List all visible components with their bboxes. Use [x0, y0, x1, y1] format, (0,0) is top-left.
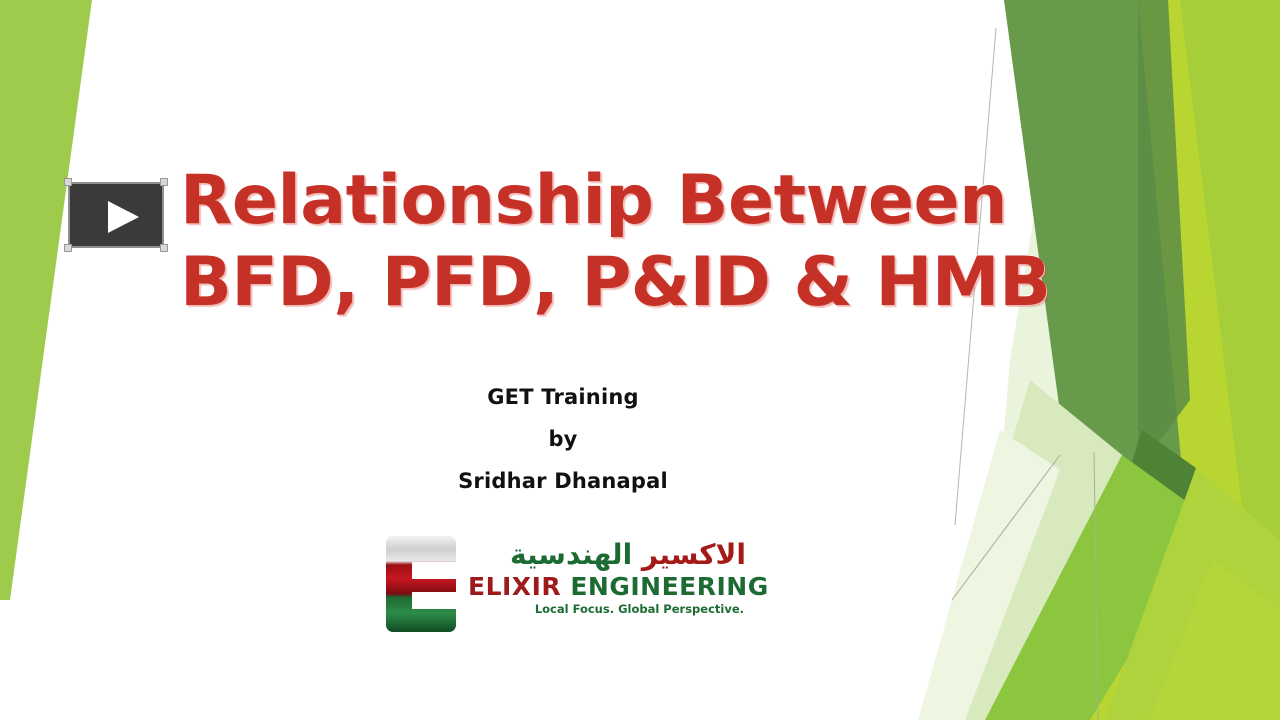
right-pale-wedge [980, 0, 1280, 720]
logo-arabic-text: الاكسير الهندسية [468, 534, 746, 572]
selection-handle-top-left[interactable] [64, 178, 72, 186]
left-green-stripe [0, 0, 92, 600]
logo-name-elixir: ELIXIR [468, 572, 561, 601]
logo-text-group: الاكسير الهندسية ELIXIR ENGINEERING Loca… [468, 534, 746, 617]
logo-arabic-red: الاكسير [642, 538, 746, 571]
selection-handle-bottom-left[interactable] [64, 244, 72, 252]
hairline-diagonal-3 [1094, 452, 1098, 720]
title-line-1: Relationship Between [180, 160, 1000, 242]
hairline-diagonal-2 [952, 455, 1060, 600]
right-dark-wedge [1138, 0, 1190, 470]
right-deepgreen-triangle [1120, 430, 1196, 560]
logo-company-name: ELIXIR ENGINEERING [468, 572, 746, 601]
selection-handle-bottom-right[interactable] [160, 244, 168, 252]
logo-arabic-green: الهندسية [510, 538, 632, 571]
logo-tagline: Local Focus. Global Perspective. [468, 601, 746, 617]
video-placeholder[interactable] [68, 182, 164, 248]
elixir-e-mark-icon [386, 536, 456, 632]
lower-pale-band [930, 380, 1122, 720]
selection-handle-top-right[interactable] [160, 178, 168, 186]
company-logo: الاكسير الهندسية ELIXIR ENGINEERING Loca… [386, 534, 746, 636]
e-mark-notch-bottom [412, 592, 456, 609]
play-icon[interactable] [108, 201, 139, 233]
presentation-slide: Relationship Between BFD, PFD, P&ID & HM… [0, 0, 1280, 720]
title-line-2: BFD, PFD, P&ID & HMB [180, 242, 1000, 324]
subtitle-line-3: Sridhar Dhanapal [180, 460, 946, 502]
bottom-right-soft [1150, 560, 1280, 720]
slide-subtitle: GET Training by Sridhar Dhanapal [180, 376, 946, 502]
subtitle-line-1: GET Training [180, 376, 946, 418]
slide-title: Relationship Between BFD, PFD, P&ID & HM… [180, 160, 1000, 324]
subtitle-line-2: by [180, 418, 946, 460]
logo-name-engineering: ENGINEERING [570, 572, 768, 601]
e-mark-notch-top [412, 562, 456, 579]
video-frame[interactable] [68, 182, 164, 248]
bottom-bright-band [985, 455, 1212, 720]
right-yellowgreen-column [1060, 0, 1268, 720]
right-lime-column [1080, 0, 1280, 720]
bottom-lime-overlay [1105, 468, 1280, 720]
